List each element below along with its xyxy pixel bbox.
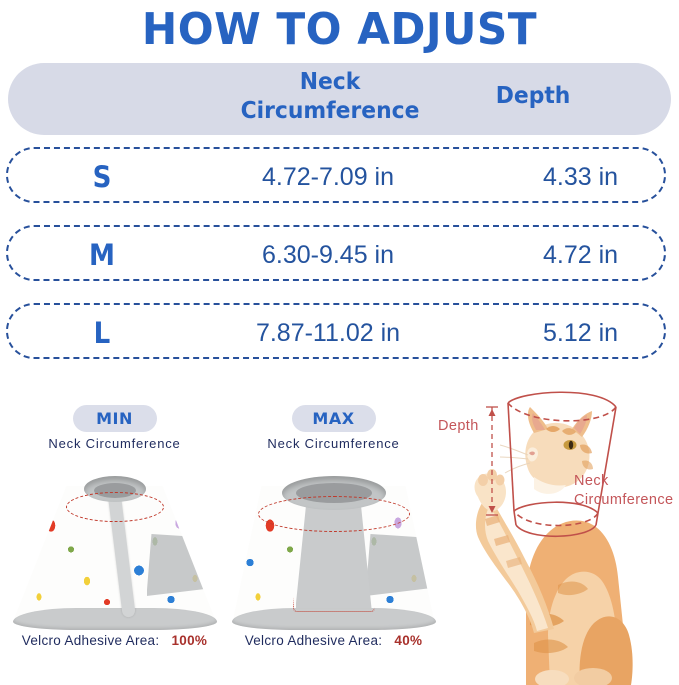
page-title: HOW TO ADJUST <box>14 4 666 56</box>
velcro-value: 100% <box>171 633 207 648</box>
cone-collar-min-illustration <box>15 476 215 626</box>
cell-size: M <box>57 227 147 283</box>
mesh-window <box>366 534 428 596</box>
cell-neck-circumference: 4.72-7.09 in <box>168 149 488 205</box>
cell-neck-circumference: 7.87-11.02 in <box>168 305 488 361</box>
table-row: S 4.72-7.09 in 4.33 in <box>6 147 666 203</box>
panel-max-sublabel: Neck Circumference <box>222 436 445 451</box>
panel-max: MAX Neck Circumference <box>222 385 445 685</box>
cell-depth: 4.72 in <box>498 227 663 283</box>
cell-size: L <box>57 305 147 361</box>
table-row: L 7.87-11.02 in 5.12 in <box>6 303 666 359</box>
velcro-area-min: Velcro Adhesive Area: 100% <box>3 633 226 648</box>
velcro-label: Velcro Adhesive Area: <box>245 633 383 648</box>
collar-photo-min <box>3 455 226 630</box>
cell-depth: 4.33 in <box>498 149 663 205</box>
velcro-area-max: Velcro Adhesive Area: 40% <box>222 633 445 648</box>
velcro-label: Velcro Adhesive Area: <box>22 633 160 648</box>
label-neck-circumference: Neck Circumference <box>574 472 679 510</box>
cone-collar-max-illustration <box>234 476 434 626</box>
table-row: M 6.30-9.45 in 4.72 in <box>6 225 666 281</box>
header-neck-circumference: Neck Circumference <box>192 68 468 126</box>
collar-bottom-rim <box>13 608 217 630</box>
panel-cat-diagram: Depth Neck Circumference <box>430 385 679 685</box>
cell-depth: 5.12 in <box>498 305 663 361</box>
badge-max: MAX <box>292 405 376 432</box>
cell-size: S <box>57 149 147 205</box>
header-neck-line2: Circumference <box>241 98 420 124</box>
header-depth: Depth <box>496 82 639 111</box>
neck-measure-dashed-ring <box>258 496 410 532</box>
label-neck-line2: Circumference <box>574 492 673 508</box>
header-neck-line1: Neck <box>300 69 361 95</box>
mesh-window <box>147 534 209 596</box>
badge-min: MIN <box>73 405 157 432</box>
cell-neck-circumference: 6.30-9.45 in <box>168 227 488 283</box>
infographic-page: HOW TO ADJUST Neck Circumference Depth S… <box>0 0 679 685</box>
label-neck-line1: Neck <box>574 473 609 489</box>
collar-photo-max <box>222 455 445 630</box>
velcro-value: 40% <box>394 633 422 648</box>
panel-min: MIN Neck Circumference Ve <box>3 385 226 685</box>
neck-measure-dashed-ring <box>66 492 164 522</box>
label-depth: Depth <box>438 418 479 434</box>
panel-min-sublabel: Neck Circumference <box>3 436 226 451</box>
